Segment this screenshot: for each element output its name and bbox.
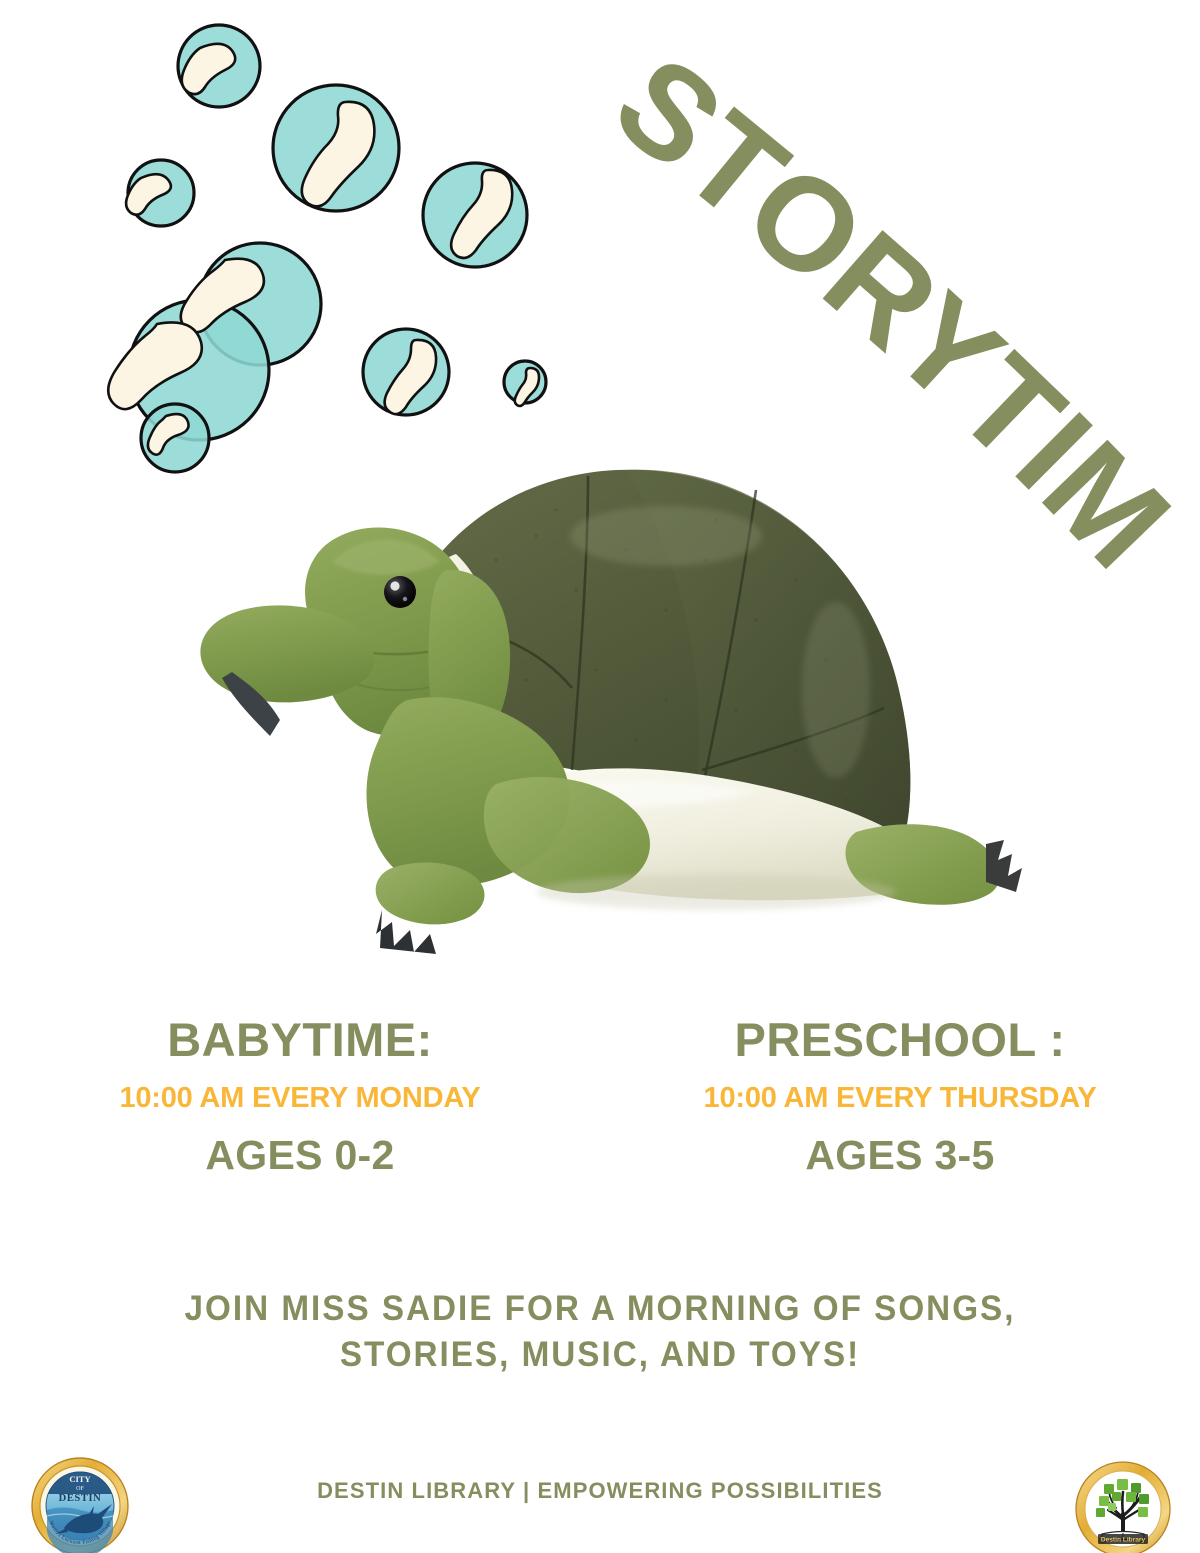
tagline-line-2: STORIES, MUSIC, AND TOYS! <box>30 1332 1170 1378</box>
poster-canvas: STORYTIME <box>0 0 1200 1553</box>
session-babytime: BABYTIME: 10:00 AM EVERY MONDAY AGES 0-2 <box>0 1012 600 1180</box>
tagline-line-1: JOIN MISS SADIE FOR A MORNING OF SONGS, <box>30 1286 1170 1332</box>
footer: CITY OF DESTIN World's Luckiest Fishing … <box>0 1448 1200 1553</box>
session-title-preschool: PRESCHOOL : <box>600 1012 1200 1067</box>
session-ages-preschool: AGES 3-5 <box>600 1131 1200 1180</box>
session-preschool: PRESCHOOL : 10:00 AM EVERY THURSDAY AGES… <box>600 1012 1200 1180</box>
session-columns: BABYTIME: 10:00 AM EVERY MONDAY AGES 0-2… <box>0 1012 1200 1180</box>
tagline: JOIN MISS SADIE FOR A MORNING OF SONGS, … <box>30 1286 1170 1378</box>
session-time-preschool: 10:00 AM EVERY THURSDAY <box>600 1080 1200 1118</box>
session-ages-babytime: AGES 0-2 <box>0 1131 600 1180</box>
library-logo-label: Destin Library <box>1101 1537 1146 1544</box>
session-time-babytime: 10:00 AM EVERY MONDAY <box>0 1080 600 1118</box>
destin-library-logo: Destin Library <box>1072 1458 1174 1553</box>
footer-text: DESTIN LIBRARY | EMPOWERING POSSIBILITIE… <box>0 1478 1200 1504</box>
session-title-babytime: BABYTIME: <box>0 1012 600 1067</box>
turtle-puppet-image <box>196 440 1036 1000</box>
turtle-eye <box>384 576 416 608</box>
